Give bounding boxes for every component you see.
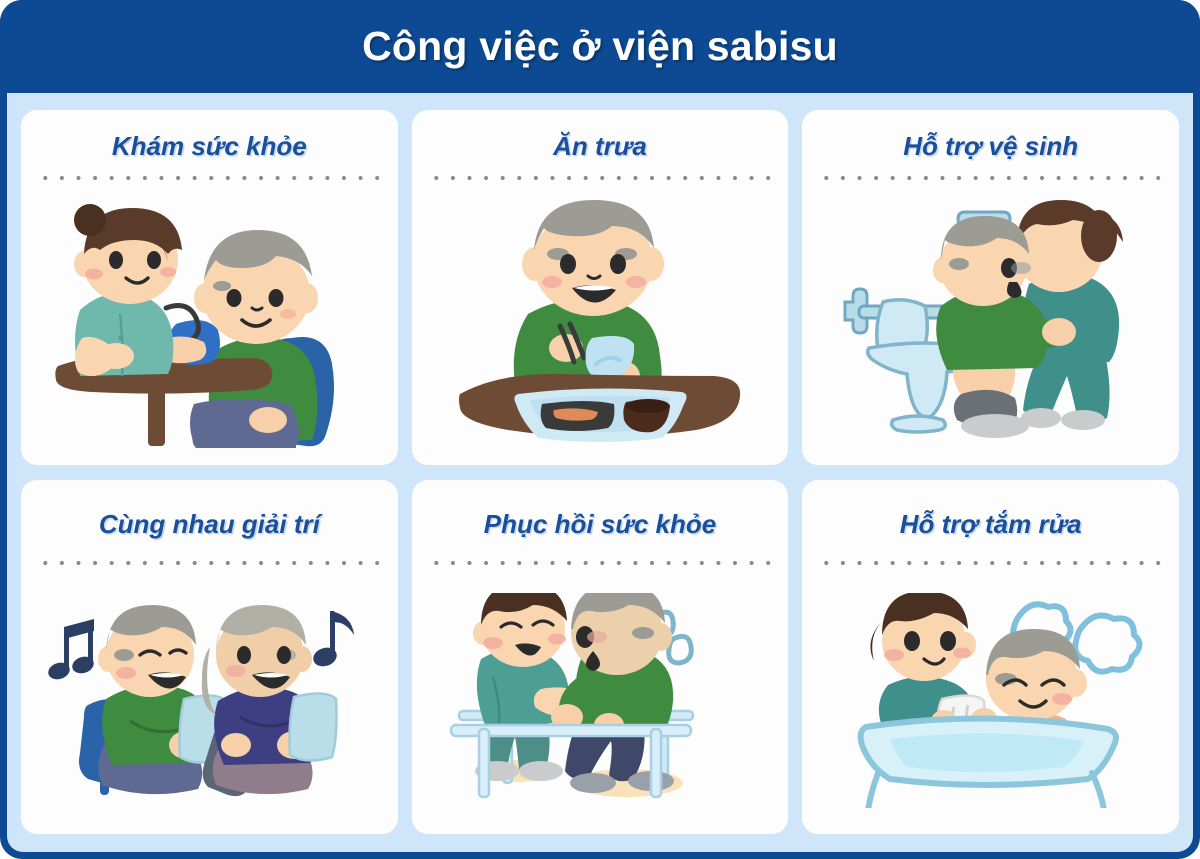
toilet-assist-icon xyxy=(831,198,1151,448)
card-health-check[interactable]: Khám sức khỏe xyxy=(21,110,398,465)
music-note-icon xyxy=(46,619,96,682)
rehabilitation-icon xyxy=(445,593,755,808)
card-bath-assist[interactable]: Hỗ trợ tắm rửa xyxy=(802,480,1179,835)
illustration-rehabilitation xyxy=(412,566,789,834)
recreation-icon xyxy=(44,593,374,808)
card-title: Hỗ trợ tắm rửa xyxy=(900,510,1082,539)
illustration-toilet-assist xyxy=(802,181,1179,465)
illustration-recreation xyxy=(21,566,398,834)
card-lunch[interactable]: Ăn trưa xyxy=(412,110,789,465)
card-title: Ăn trưa xyxy=(553,132,647,161)
card-recreation[interactable]: Cùng nhau giải trí xyxy=(21,480,398,835)
health-check-icon xyxy=(44,198,374,448)
card-rehabilitation[interactable]: Phục hồi sức khỏe xyxy=(412,480,789,835)
poster-frame: Công việc ở viện sabisu Khám sức khỏe xyxy=(0,0,1200,859)
lunch-icon xyxy=(450,198,750,448)
card-title: Phục hồi sức khỏe xyxy=(484,510,716,539)
illustration-bath-assist xyxy=(802,566,1179,834)
card-title: Khám sức khỏe xyxy=(112,132,307,161)
card-toilet-assist[interactable]: Hỗ trợ vệ sinh xyxy=(802,110,1179,465)
bath-assist-icon xyxy=(836,593,1146,808)
card-title: Cùng nhau giải trí xyxy=(99,510,320,539)
illustration-health-check xyxy=(21,181,398,465)
card-title: Hỗ trợ vệ sinh xyxy=(903,132,1078,161)
music-note-icon xyxy=(311,611,354,669)
card-grid: Khám sức khỏe xyxy=(21,110,1179,834)
illustration-lunch xyxy=(412,181,789,465)
page-title: Công việc ở viện sabisu xyxy=(362,26,838,67)
header-bar: Công việc ở viện sabisu xyxy=(0,0,1200,93)
content-panel: Khám sức khỏe xyxy=(7,93,1193,852)
